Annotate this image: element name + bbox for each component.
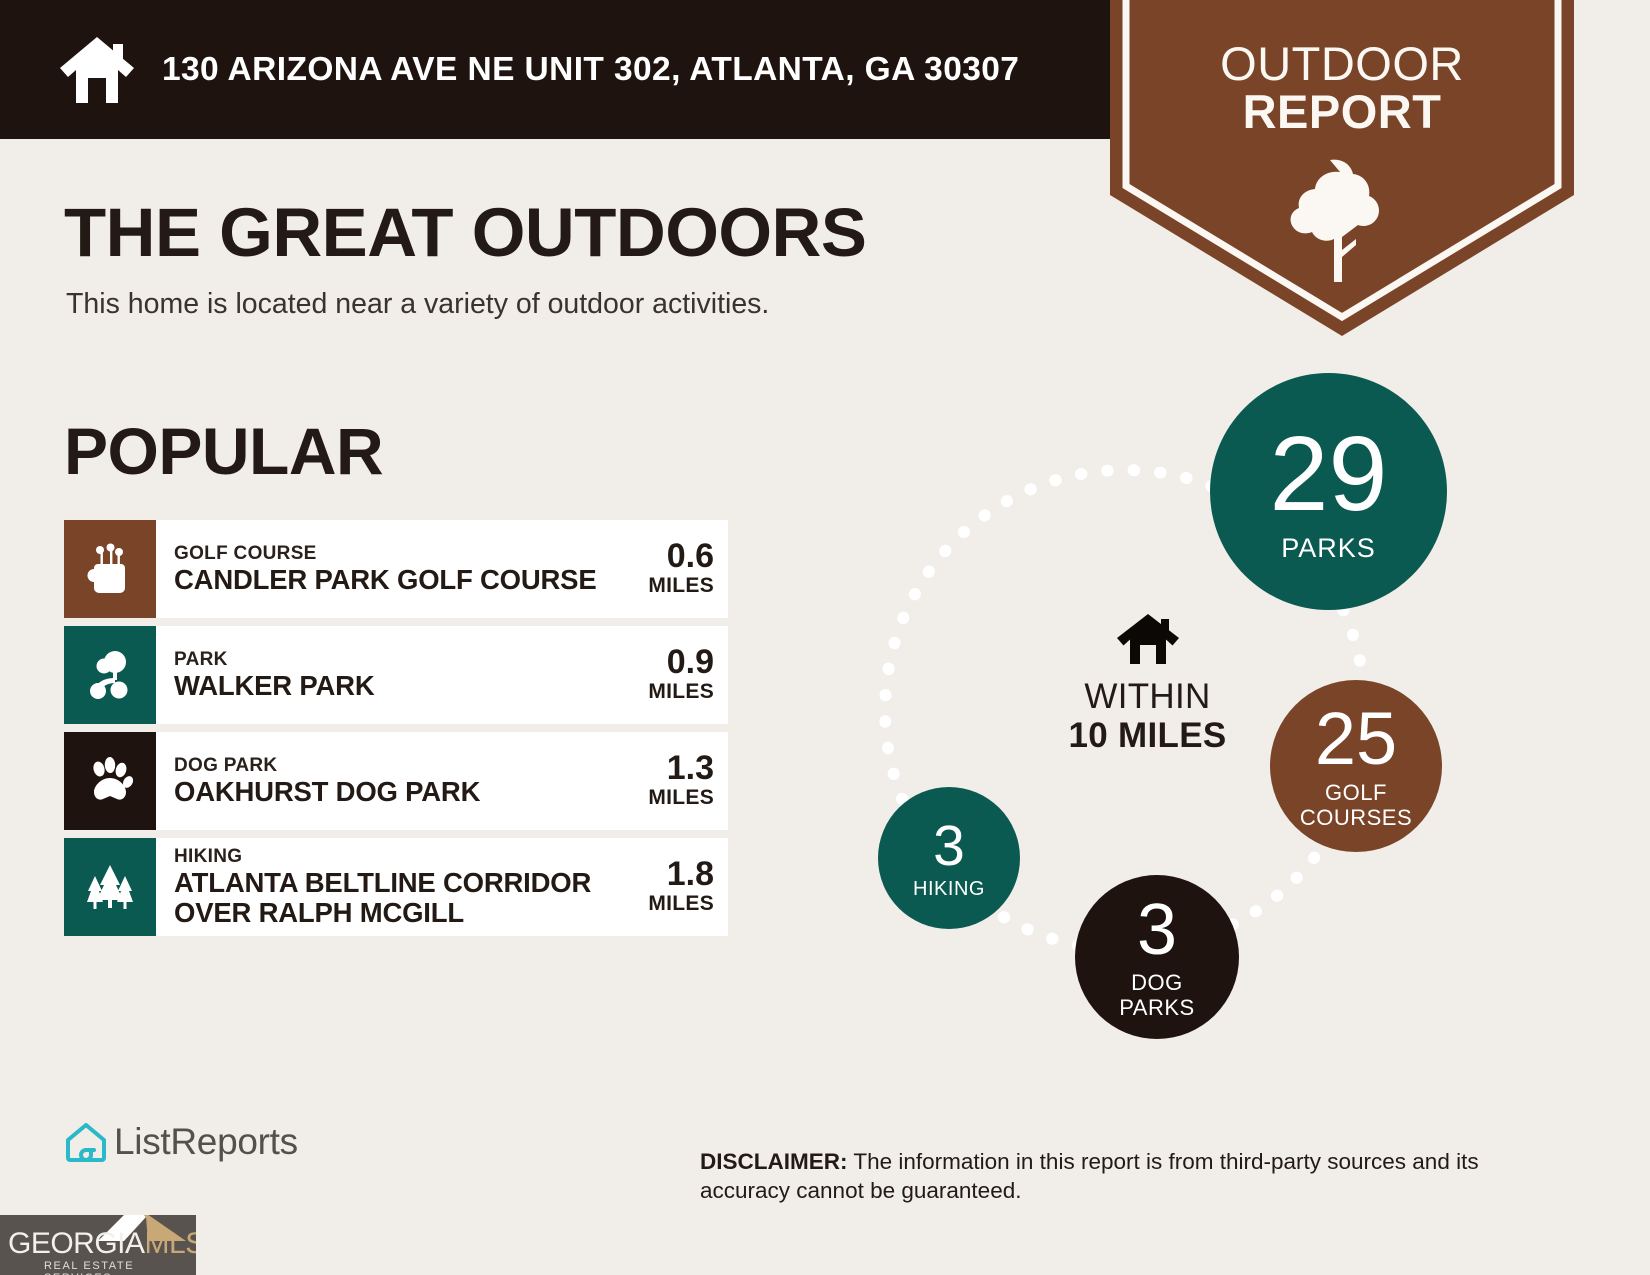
outdoor-report-badge: OUTDOOR REPORT [1110,0,1574,336]
pine-trees-icon [83,860,137,914]
mls-word-mls: MLS [145,1227,196,1260]
distance-unit: MILES [648,891,714,916]
item-category: GOLF COURSE [174,543,596,564]
item-category: PARK [174,649,374,670]
bubble-count: 29 [1270,421,1388,527]
amenities-diagram: 29 PARKS 25 GOLF COURSES 3 DOG PARKS 3 H… [820,350,1520,1070]
center-within-label: WITHIN [1035,677,1260,716]
list-item[interactable]: GOLF COURSE CANDLER PARK GOLF COURSE 0.6… [64,520,728,618]
item-icon-box [64,626,156,724]
item-category: HIKING [174,846,606,867]
property-address: 130 ARIZONA AVE NE UNIT 302, ATLANTA, GA… [162,51,1019,89]
item-distance: 0.9 MILES [606,626,728,724]
item-distance: 1.8 MILES [606,838,728,936]
paw-icon [83,754,137,808]
home-icon [1115,612,1181,666]
item-name: CANDLER PARK GOLF COURSE [174,565,596,595]
disclaimer-label: DISCLAIMER: [700,1149,848,1174]
bubble-hiking[interactable]: 3 HIKING [878,787,1020,929]
item-body: DOG PARK OAKHURST DOG PARK [156,732,606,830]
bubble-label-line-1: GOLF [1300,781,1412,805]
distance-unit: MILES [648,785,714,810]
mls-word-georgia: GEORGIA [8,1227,145,1260]
item-distance: 0.6 MILES [606,520,728,618]
bubble-dog-parks[interactable]: 3 DOG PARKS [1075,875,1239,1039]
distance-value: 0.6 [667,539,714,573]
diagram-center: WITHIN 10 MILES [1035,612,1260,755]
bubble-parks[interactable]: 29 PARKS [1210,373,1447,610]
center-radius-label: 10 MILES [1035,716,1260,755]
home-icon [58,34,136,106]
item-category: DOG PARK [174,755,480,776]
list-item[interactable]: DOG PARK OAKHURST DOG PARK 1.3 MILES [64,732,728,830]
item-name: ATLANTA BELTLINE CORRIDOR OVER RALPH MCG… [174,868,606,929]
page-title: THE GREAT OUTDOORS [64,193,866,272]
item-body: PARK WALKER PARK [156,626,606,724]
golf-bag-icon [83,542,137,596]
item-name: WALKER PARK [174,671,374,701]
item-distance: 1.3 MILES [606,732,728,830]
bubble-label: DOG PARKS [1119,971,1194,1019]
bubble-golf-courses[interactable]: 25 GOLF COURSES [1270,680,1442,852]
park-tree-icon [83,648,137,702]
listreports-wordmark: ListReports [114,1121,298,1163]
page-subtitle: This home is located near a variety of o… [66,288,769,321]
disclaimer: DISCLAIMER: The information in this repo… [700,1148,1510,1206]
item-icon-box [64,520,156,618]
bubble-label: GOLF COURSES [1300,781,1412,829]
item-icon-box [64,732,156,830]
popular-list: GOLF COURSE CANDLER PARK GOLF COURSE 0.6… [64,520,728,944]
bubble-count: 25 [1315,702,1397,776]
item-name: OAKHURST DOG PARK [174,777,480,807]
bubble-label-line-2: PARKS [1119,996,1194,1020]
listreports-logo[interactable]: ListReports [64,1120,298,1164]
mls-tagline: REAL ESTATE SERVICES [44,1260,196,1275]
item-body: HIKING ATLANTA BELTLINE CORRIDOR OVER RA… [156,838,606,936]
badge-shape [1110,0,1574,336]
list-item[interactable]: HIKING ATLANTA BELTLINE CORRIDOR OVER RA… [64,838,728,936]
distance-unit: MILES [648,573,714,598]
house-outline-icon [64,1120,108,1164]
bubble-count: 3 [1137,894,1177,966]
bubble-label: PARKS [1281,535,1376,562]
distance-value: 1.8 [667,857,714,891]
header-bar: 130 ARIZONA AVE NE UNIT 302, ATLANTA, GA… [0,0,1185,139]
georgia-mls-badge: GEORGIAMLS REAL ESTATE SERVICES [0,1215,196,1275]
bubble-count: 3 [933,818,965,875]
item-body: GOLF COURSE CANDLER PARK GOLF COURSE [156,520,606,618]
distance-unit: MILES [648,679,714,704]
mls-wordmark: GEORGIAMLS [8,1227,196,1261]
list-item[interactable]: PARK WALKER PARK 0.9 MILES [64,626,728,724]
distance-value: 1.3 [667,751,714,785]
bubble-label-line-1: DOG [1119,971,1194,995]
section-title-popular: POPULAR [64,413,383,489]
item-icon-box [64,838,156,936]
bubble-label-line-2: COURSES [1300,806,1412,830]
distance-value: 0.9 [667,645,714,679]
bubble-label: HIKING [913,879,985,899]
